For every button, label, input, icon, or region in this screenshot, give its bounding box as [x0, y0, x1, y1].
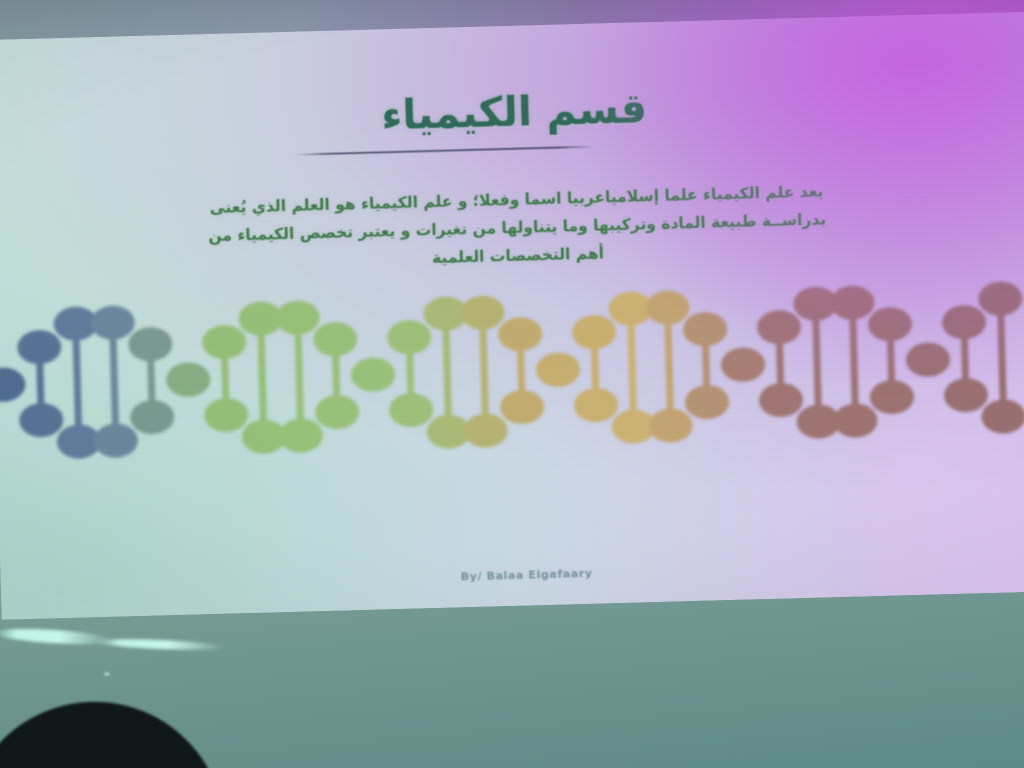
- photo-stage: قسم الكيمياء يعد علم الكيمياء علما إسلام…: [0, 0, 1024, 768]
- screen-vignette: [0, 12, 1024, 620]
- projection-screen: قسم الكيمياء يعد علم الكيمياء علما إسلام…: [0, 12, 1024, 620]
- reflection-speck: [104, 672, 110, 676]
